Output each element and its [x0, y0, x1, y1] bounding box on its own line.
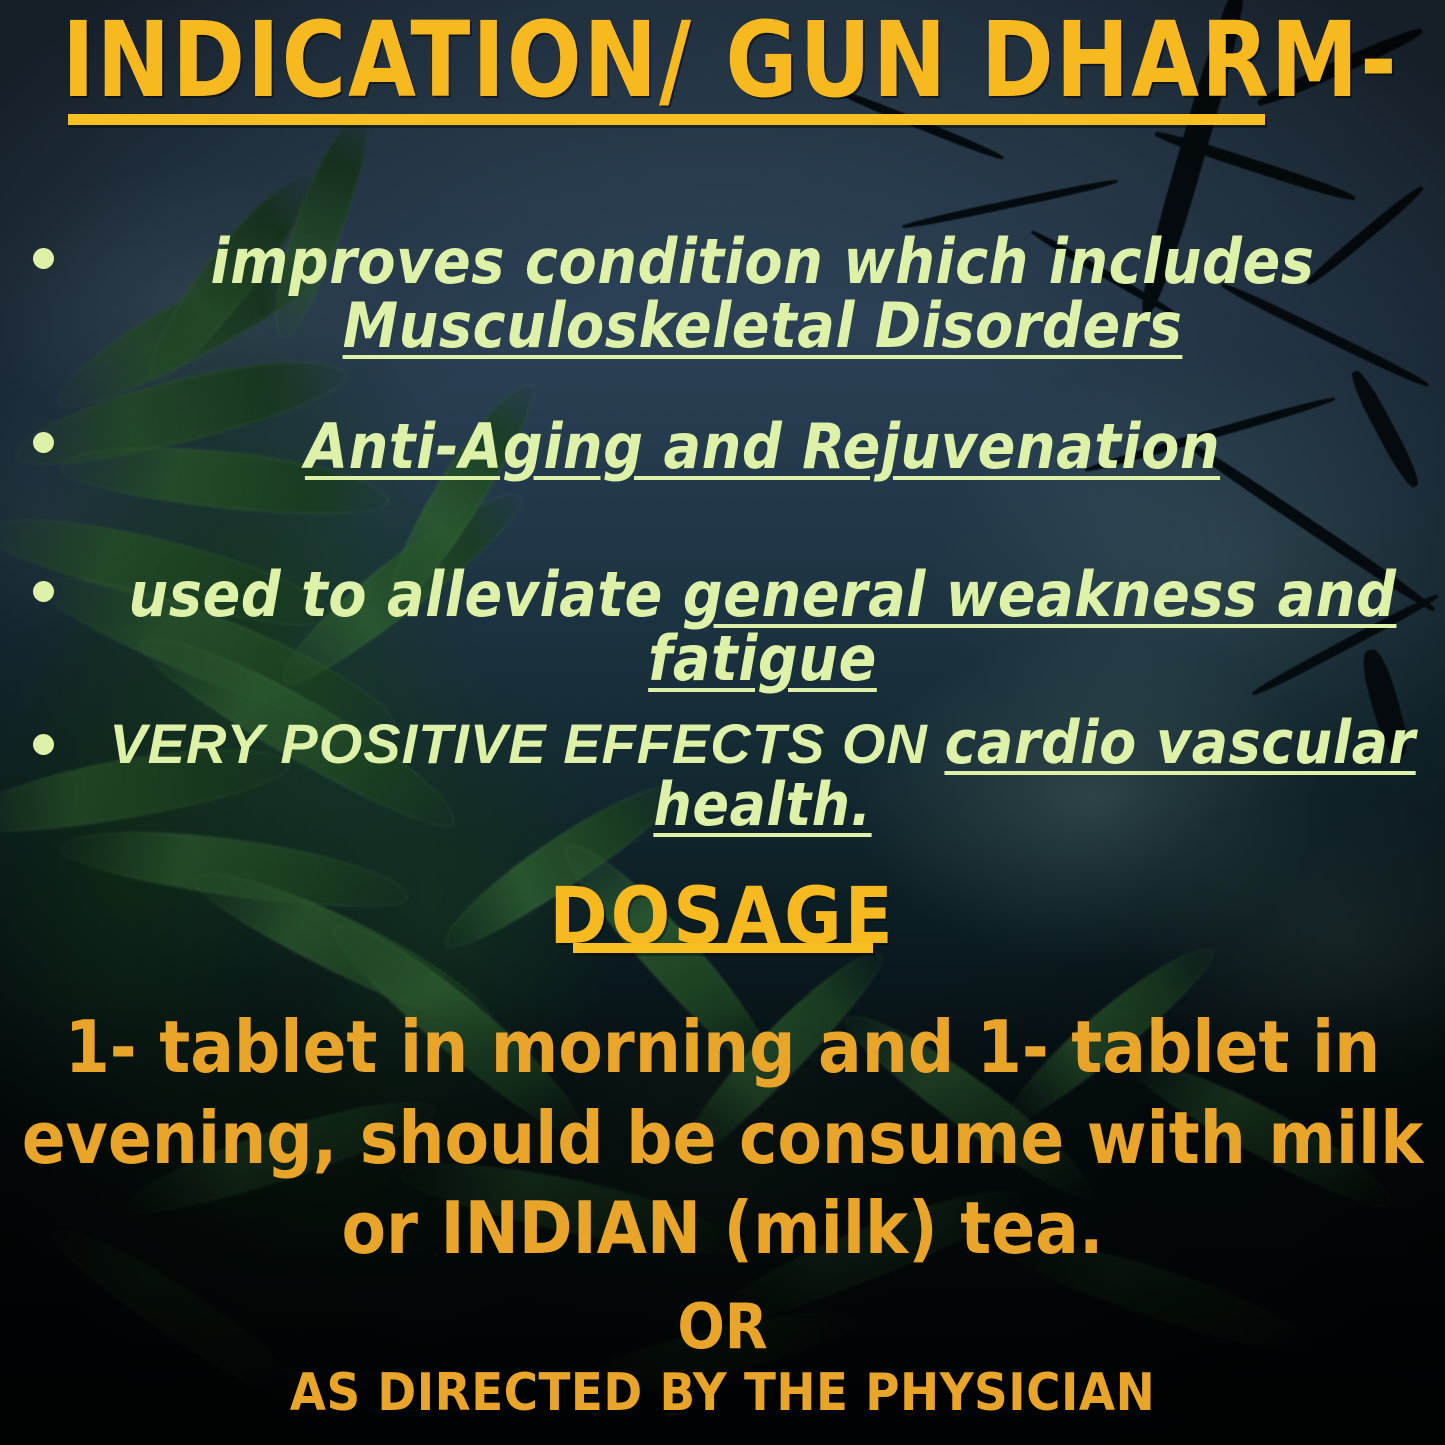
bullet-dot-icon — [33, 581, 54, 602]
page-title: INDICATION/ GUN DHARM- — [0, 8, 1358, 112]
bullet-plain-text: used to alleviate — [129, 558, 683, 631]
dosage-physician-note: AS DIRECTED BY THE PHYSICIAN — [0, 1363, 1445, 1423]
page-title-underline-bar — [68, 114, 1265, 125]
bullet-underlined-text: Musculoskeletal Disorders — [343, 289, 1183, 362]
poster-canvas: INDICATION/ GUN DHARM- improves conditio… — [0, 0, 1445, 1445]
dosage-or-label: OR — [0, 1290, 1445, 1363]
bullet-text: Anti-Aging and Rejuvenation — [100, 415, 1425, 479]
bullet-dot-icon — [33, 734, 54, 755]
bullet-dot-icon — [33, 248, 54, 269]
bullet-text: improves condition which includes Muscul… — [100, 230, 1425, 359]
poster-content: INDICATION/ GUN DHARM- improves conditio… — [0, 0, 1445, 1445]
bullet-underlined-text: general weakness and fatigue — [648, 558, 1396, 695]
dosage-instructions: 1- tablet in morning and 1- tablet in ev… — [0, 1002, 1445, 1274]
bullet-plain-text: VERY POSITIVE EFFECTS ON — [109, 712, 944, 775]
bullet-text: VERY POSITIVE EFFECTS ON cardio vascular… — [100, 712, 1425, 837]
dosage-heading-underline-bar — [573, 943, 873, 953]
bullet-text: used to alleviate general weakness and f… — [100, 563, 1425, 692]
bullet-dot-icon — [33, 432, 54, 453]
bullet-underlined-text: Anti-Aging and Rejuvenation — [305, 410, 1220, 483]
bullet-plain-text: improves condition which includes — [211, 225, 1315, 298]
